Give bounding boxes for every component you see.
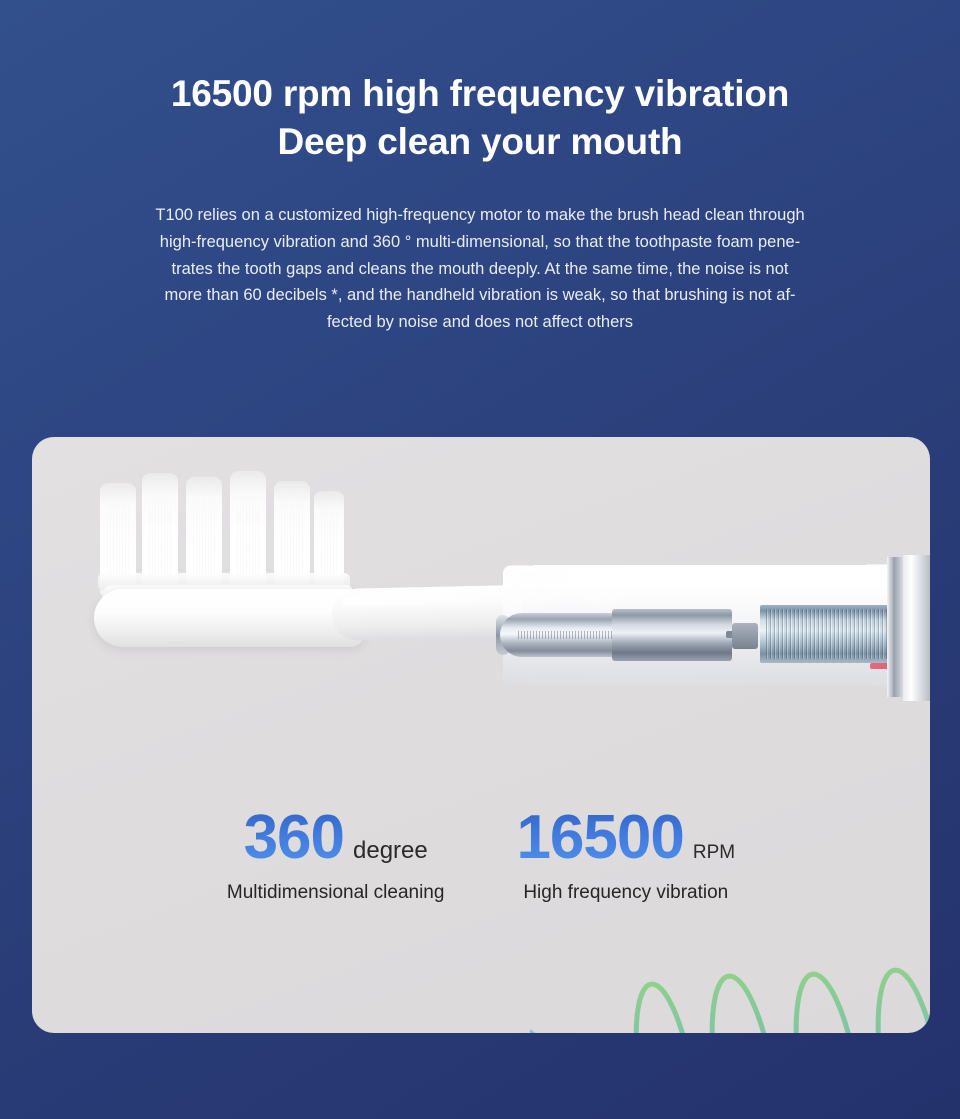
description-paragraph: T100 relies on a customized high-frequen… xyxy=(55,202,905,336)
stat-rpm-description: High frequency vibration xyxy=(516,882,735,904)
rotation-arrow-icon xyxy=(508,1019,648,1033)
headline-line-2: Deep clean your mouth xyxy=(0,118,960,166)
stat-degree-value-row: 360 degree xyxy=(227,807,445,869)
stat-rpm: 16500 RPM High frequency vibration xyxy=(516,807,735,904)
description-line-4: more than 60 decibels *, and the handhel… xyxy=(55,282,905,309)
description-line-5: fected by noise and does not affect othe… xyxy=(55,309,905,336)
drive-shaft xyxy=(500,613,630,657)
brush-head-body xyxy=(94,589,364,647)
toothbrush-illustration xyxy=(32,437,930,837)
description-line-2: high-frequency vibration and 360 ° multi… xyxy=(55,229,905,256)
stat-rpm-unit: RPM xyxy=(693,842,735,864)
stat-degree-value: 360 xyxy=(244,807,344,869)
stat-degree-description: Multidimensional cleaning xyxy=(227,882,445,904)
stat-rpm-value: 16500 xyxy=(516,807,683,869)
handle-highlight xyxy=(508,569,888,585)
stats-row: 360 degree Multidimensional cleaning 165… xyxy=(32,807,930,904)
motor-notch xyxy=(732,623,758,649)
stat-rpm-value-row: 16500 RPM xyxy=(516,807,735,869)
page-title: 16500 rpm high frequency vibration Deep … xyxy=(0,70,960,166)
handle-end-barrel xyxy=(903,555,930,701)
motor-coil xyxy=(760,605,908,663)
stat-degree: 360 degree Multidimensional cleaning xyxy=(227,807,445,904)
headline-line-1: 16500 rpm high frequency vibration xyxy=(0,70,960,118)
description-line-1: T100 relies on a customized high-frequen… xyxy=(55,202,905,229)
motor-sleeve xyxy=(612,609,732,661)
vibration-spiral-icon xyxy=(632,967,930,1033)
stat-degree-unit: degree xyxy=(353,837,428,865)
description-line-3: trates the tooth gaps and cleans the mou… xyxy=(55,256,905,283)
header-section: 16500 rpm high frequency vibration Deep … xyxy=(0,0,960,336)
handle-metal-ring xyxy=(887,557,903,697)
product-feature-card: 360 degree Multidimensional cleaning 165… xyxy=(32,437,930,1033)
